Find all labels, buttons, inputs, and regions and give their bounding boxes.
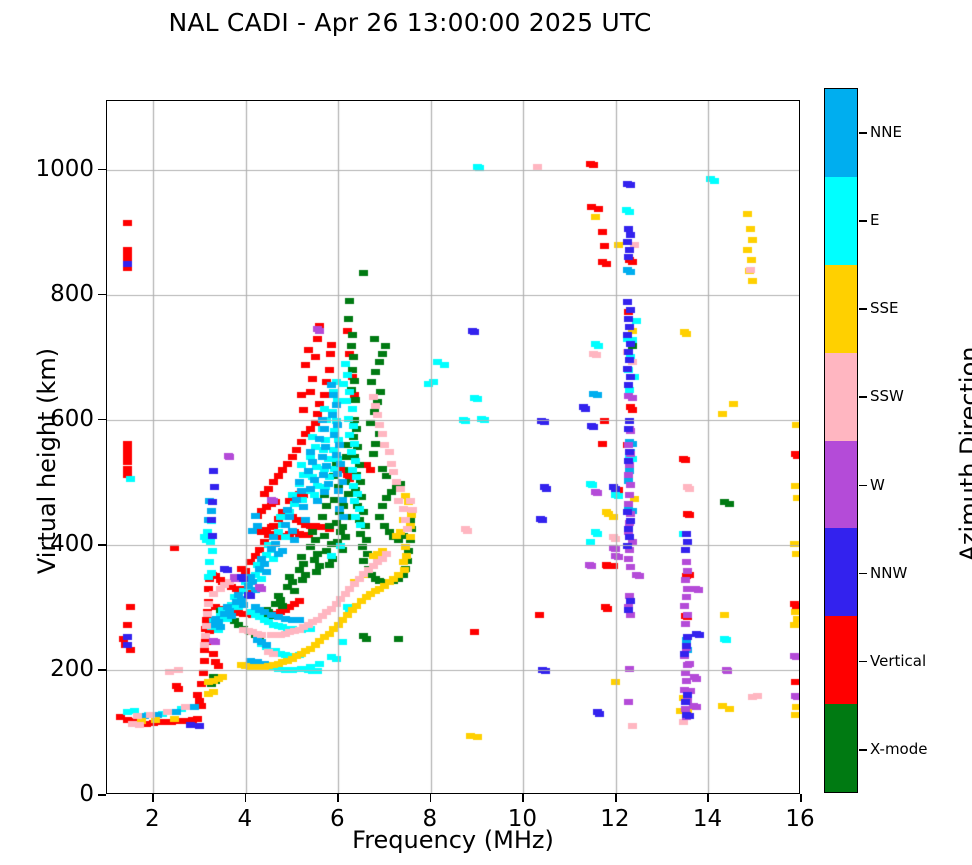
colorbar-tick (859, 485, 867, 487)
colorbar-tick (859, 132, 867, 134)
x-tick-mark (152, 794, 154, 802)
plot-area[interactable] (106, 100, 800, 794)
y-tick-label: 0 (20, 781, 94, 807)
colorbar-label-sse: SSE (870, 299, 899, 317)
y-tick-mark (98, 169, 106, 171)
colorbar-segment-w[interactable] (825, 441, 857, 529)
colorbar-segment-x-mode[interactable] (825, 704, 857, 792)
colorbar-tick (859, 749, 867, 751)
colorbar-tick (859, 220, 867, 222)
colorbar-label-nne: NNE (870, 123, 902, 141)
colorbar-segment-vertical[interactable] (825, 616, 857, 704)
y-tick-mark (98, 794, 106, 796)
colorbar-tick (859, 396, 867, 398)
colorbar-segment-ssw[interactable] (825, 353, 857, 441)
y-axis-label: Virtual height (km) (33, 321, 61, 601)
colorbar-label-x-mode: X-mode (870, 740, 927, 758)
colorbar-segment-e[interactable] (825, 177, 857, 265)
colorbar-label-ssw: SSW (870, 387, 904, 405)
page-title: NAL CADI - Apr 26 13:00:00 2025 UTC (0, 8, 820, 37)
colorbar-title: Azimuth Direction (955, 294, 972, 614)
x-tick-mark (337, 794, 339, 802)
colorbar-label-vertical: Vertical (870, 652, 926, 670)
colorbar-tick (859, 573, 867, 575)
x-tick-mark (245, 794, 247, 802)
colorbar-label-nnw: NNW (870, 564, 907, 582)
colorbar-segment-nne[interactable] (825, 89, 857, 177)
colorbar-label-w: W (870, 476, 885, 494)
azimuth-colorbar[interactable] (824, 88, 858, 793)
y-tick-label: 200 (20, 656, 94, 682)
scatter-data-canvas (107, 101, 800, 794)
y-tick-label: 800 (20, 281, 94, 307)
y-tick-mark (98, 669, 106, 671)
x-tick-mark (522, 794, 524, 802)
colorbar-tick (859, 661, 867, 663)
colorbar-tick (859, 308, 867, 310)
x-tick-mark (430, 794, 432, 802)
colorbar-segment-sse[interactable] (825, 265, 857, 353)
ionogram-figure: NAL CADI - Apr 26 13:00:00 2025 UTC 0200… (0, 0, 972, 865)
x-tick-mark (800, 794, 802, 802)
x-axis-label: Frequency (MHz) (106, 826, 800, 854)
y-tick-mark (98, 294, 106, 296)
x-tick-mark (707, 794, 709, 802)
y-tick-label: 1000 (20, 156, 94, 182)
x-tick-mark (615, 794, 617, 802)
y-tick-mark (98, 544, 106, 546)
colorbar-label-e: E (870, 211, 879, 229)
colorbar-segment-nnw[interactable] (825, 528, 857, 616)
y-tick-mark (98, 419, 106, 421)
